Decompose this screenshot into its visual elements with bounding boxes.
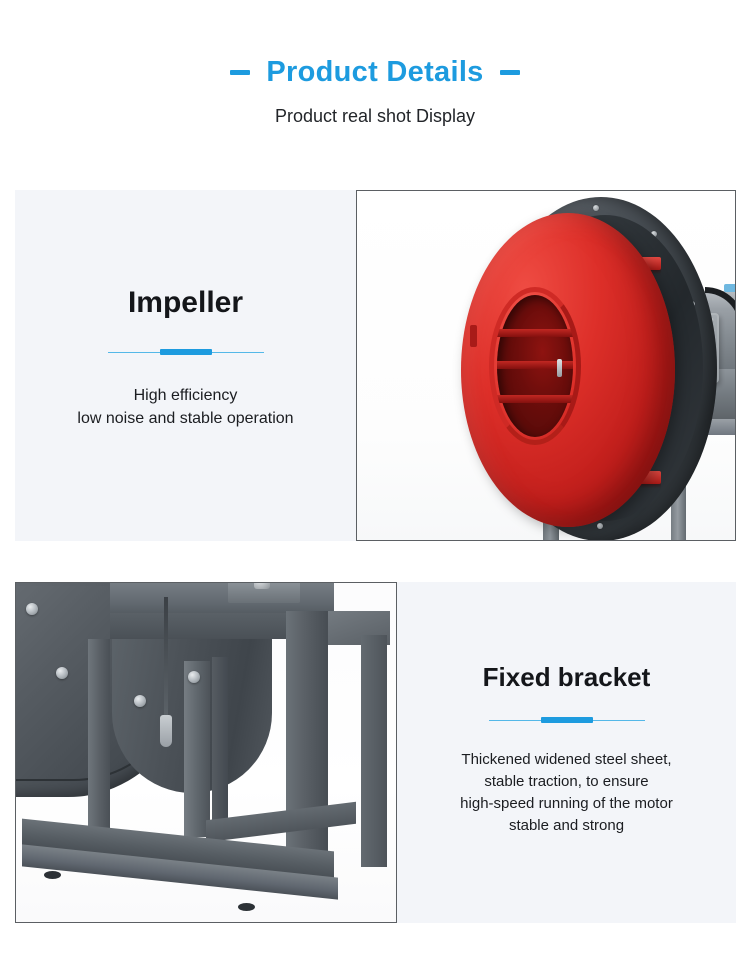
impeller-text-panel: Impeller High efficiency low noise and s…: [15, 190, 356, 541]
impeller-description-line: High efficiency: [77, 385, 293, 408]
impeller-description: High efficiency low noise and stable ope…: [77, 385, 293, 430]
impeller-photo: [356, 190, 736, 541]
motor-cable-tag: [724, 284, 736, 292]
fixed-bracket-description-line: stable traction, to ensure: [460, 771, 673, 793]
fixed-bracket-text-panel: Fixed bracket Thickened widened steel sh…: [397, 582, 736, 923]
fixed-bracket-description-line: Thickened widened steel sheet,: [460, 749, 673, 771]
page-subtitle: Product real shot Display: [0, 107, 750, 125]
fixed-bracket-title: Fixed bracket: [483, 663, 651, 692]
bracket-tension-rod-tip: [160, 715, 172, 747]
fixed-bracket-photo: [15, 582, 397, 923]
fixed-bracket-description: Thickened widened steel sheet, stable tr…: [460, 749, 673, 836]
impeller-description-line: low noise and stable operation: [77, 408, 293, 431]
housing-bolt: [26, 603, 38, 615]
impeller-balance-tab: [470, 325, 477, 347]
page-title: Product Details: [266, 58, 483, 87]
page-title-row: Product Details: [0, 58, 750, 87]
section-fixed-bracket: Fixed bracket Thickened widened steel sh…: [15, 582, 736, 923]
divider-bar: [541, 717, 593, 723]
housing-bolt: [56, 667, 68, 679]
bracket-mounting-hole: [44, 871, 61, 879]
fixed-bracket-description-line: stable and strong: [460, 815, 673, 837]
fixed-bracket-description-line: high-speed running of the motor: [460, 793, 673, 815]
impeller-hub-screw: [557, 359, 562, 377]
impeller-title: Impeller: [128, 286, 243, 319]
bracket-mount-bolt: [254, 582, 270, 589]
bracket-leg-right-rear: [361, 635, 387, 867]
impeller-divider: [108, 349, 264, 355]
bracket-leg-center-web: [212, 657, 228, 835]
housing-bolt: [188, 671, 200, 683]
fixed-bracket-divider: [489, 717, 645, 723]
section-impeller: Impeller High efficiency low noise and s…: [15, 190, 736, 541]
title-left-dash-icon: [230, 70, 250, 75]
bracket-mounting-hole: [238, 903, 255, 911]
divider-bar: [160, 349, 212, 355]
bracket-leg-center: [184, 661, 210, 837]
bracket-tension-rod: [164, 597, 168, 729]
housing-bolt: [134, 695, 146, 707]
impeller-inlet-cone: [489, 287, 581, 445]
title-right-dash-icon: [500, 70, 520, 75]
bracket-leg-left: [88, 639, 110, 839]
page-header: Product Details Product real shot Displa…: [0, 0, 750, 125]
